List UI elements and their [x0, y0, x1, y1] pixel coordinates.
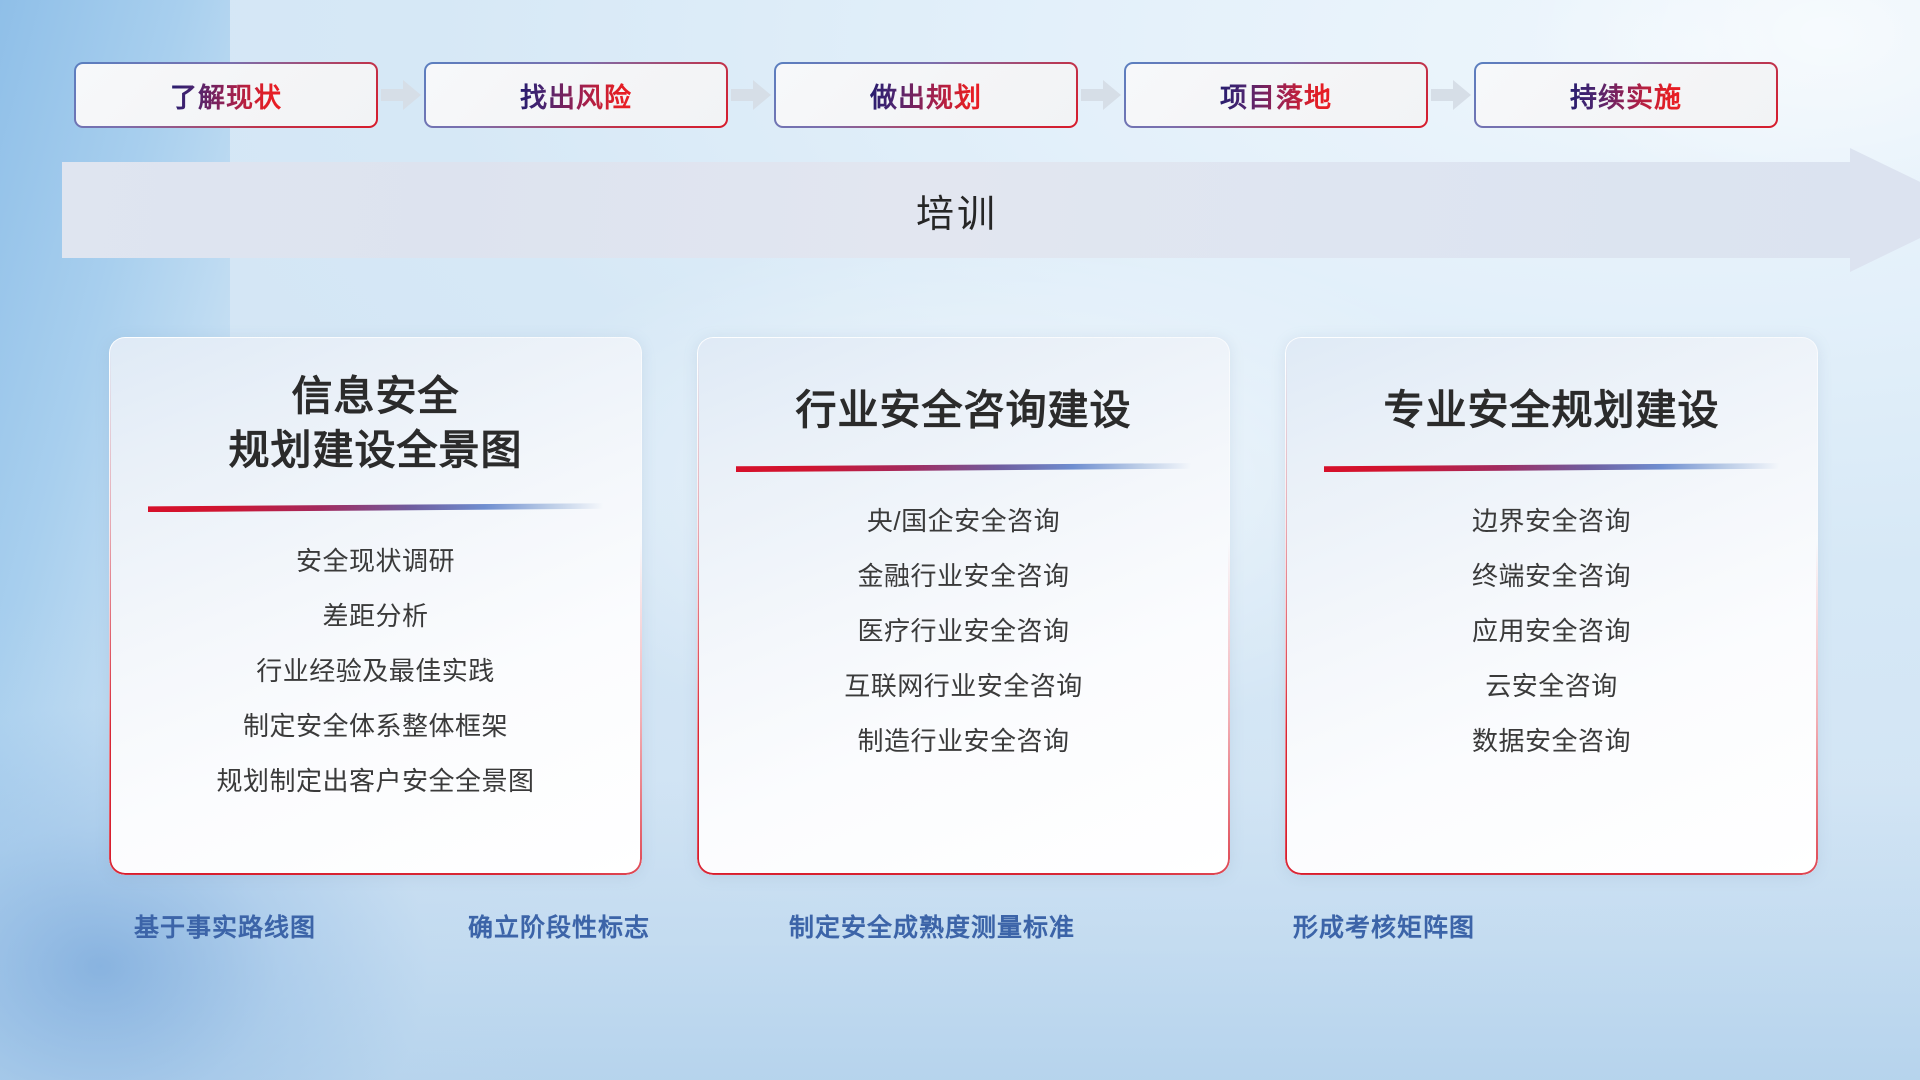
training-banner-label: 培训	[62, 162, 1852, 258]
list-item: 规划制定出客户安全全景图	[109, 768, 642, 794]
caption-maturity-standard: 制定安全成熟度测量标准	[789, 908, 1075, 944]
process-step-1-label: 了解现状	[170, 76, 282, 115]
process-step-2[interactable]: 找出风险	[424, 62, 728, 128]
card-information-security-blueprint[interactable]: 信息安全 规划建设全景图 安全现状调研 差距分析 行业经验及最佳实践 制定安全体…	[109, 337, 642, 875]
list-item: 互联网行业安全咨询	[697, 673, 1230, 699]
card-0-divider	[148, 503, 603, 512]
list-item: 行业经验及最佳实践	[109, 658, 642, 684]
caption-roadmap: 基于事实路线图	[134, 908, 316, 944]
process-step-5-label: 持续实施	[1570, 76, 1682, 115]
training-banner: 培训	[62, 162, 1920, 258]
card-2-title-line-1: 专业安全规划建设	[1311, 383, 1792, 437]
process-step-5-inner: 持续实施	[1476, 64, 1776, 126]
step-arrow-icon-2	[728, 78, 774, 112]
step-arrow-icon-3	[1078, 78, 1124, 112]
card-row: 信息安全 规划建设全景图 安全现状调研 差距分析 行业经验及最佳实践 制定安全体…	[0, 337, 1920, 877]
card-1-list: 央/国企安全咨询 金融行业安全咨询 医疗行业安全咨询 互联网行业安全咨询 制造行…	[697, 508, 1230, 754]
process-step-3-label: 做出规划	[870, 76, 982, 115]
card-2-title: 专业安全规划建设	[1285, 383, 1818, 437]
card-1-divider	[736, 463, 1191, 472]
slide-canvas: 了解现状 找出风险 做出规划	[0, 0, 1920, 1080]
caption-row: 基于事实路线图 确立阶段性标志 制定安全成熟度测量标准 形成考核矩阵图	[0, 908, 1920, 956]
step-arrow-icon-1	[378, 78, 424, 112]
card-1-title: 行业安全咨询建设	[697, 383, 1230, 437]
list-item: 央/国企安全咨询	[697, 508, 1230, 534]
caption-milestones: 确立阶段性标志	[468, 908, 650, 944]
process-step-2-inner: 找出风险	[426, 64, 726, 126]
list-item: 医疗行业安全咨询	[697, 618, 1230, 644]
list-item: 安全现状调研	[109, 548, 642, 574]
process-step-1-inner: 了解现状	[76, 64, 376, 126]
process-step-4-label: 项目落地	[1220, 76, 1332, 115]
process-step-4[interactable]: 项目落地	[1124, 62, 1428, 128]
process-step-row: 了解现状 找出风险 做出规划	[0, 62, 1920, 128]
list-item: 制定安全体系整体框架	[109, 713, 642, 739]
card-0-title-line-1: 信息安全	[135, 369, 616, 423]
list-item: 制造行业安全咨询	[697, 728, 1230, 754]
list-item: 终端安全咨询	[1285, 563, 1818, 589]
card-2-list: 边界安全咨询 终端安全咨询 应用安全咨询 云安全咨询 数据安全咨询	[1285, 508, 1818, 754]
process-step-5[interactable]: 持续实施	[1474, 62, 1778, 128]
process-step-3[interactable]: 做出规划	[774, 62, 1078, 128]
list-item: 差距分析	[109, 603, 642, 629]
list-item: 数据安全咨询	[1285, 728, 1818, 754]
list-item: 金融行业安全咨询	[697, 563, 1230, 589]
process-step-1[interactable]: 了解现状	[74, 62, 378, 128]
step-arrow-icon-4	[1428, 78, 1474, 112]
list-item: 云安全咨询	[1285, 673, 1818, 699]
process-step-3-inner: 做出规划	[776, 64, 1076, 126]
card-1-title-line-1: 行业安全咨询建设	[723, 383, 1204, 437]
process-step-2-label: 找出风险	[520, 76, 632, 115]
card-0-title-line-2: 规划建设全景图	[135, 423, 616, 477]
card-industry-security-consulting[interactable]: 行业安全咨询建设 央/国企安全咨询 金融行业安全咨询 医疗行业安全咨询 互联网行…	[697, 337, 1230, 875]
process-step-4-inner: 项目落地	[1126, 64, 1426, 126]
card-0-list: 安全现状调研 差距分析 行业经验及最佳实践 制定安全体系整体框架 规划制定出客户…	[109, 548, 642, 794]
card-2-divider	[1324, 463, 1779, 472]
list-item: 边界安全咨询	[1285, 508, 1818, 534]
caption-assessment-matrix: 形成考核矩阵图	[1293, 908, 1475, 944]
card-0-title: 信息安全 规划建设全景图	[109, 369, 642, 477]
list-item: 应用安全咨询	[1285, 618, 1818, 644]
card-professional-security-planning[interactable]: 专业安全规划建设 边界安全咨询 终端安全咨询 应用安全咨询 云安全咨询 数据安全…	[1285, 337, 1818, 875]
training-banner-arrowhead-icon	[1850, 148, 1920, 272]
